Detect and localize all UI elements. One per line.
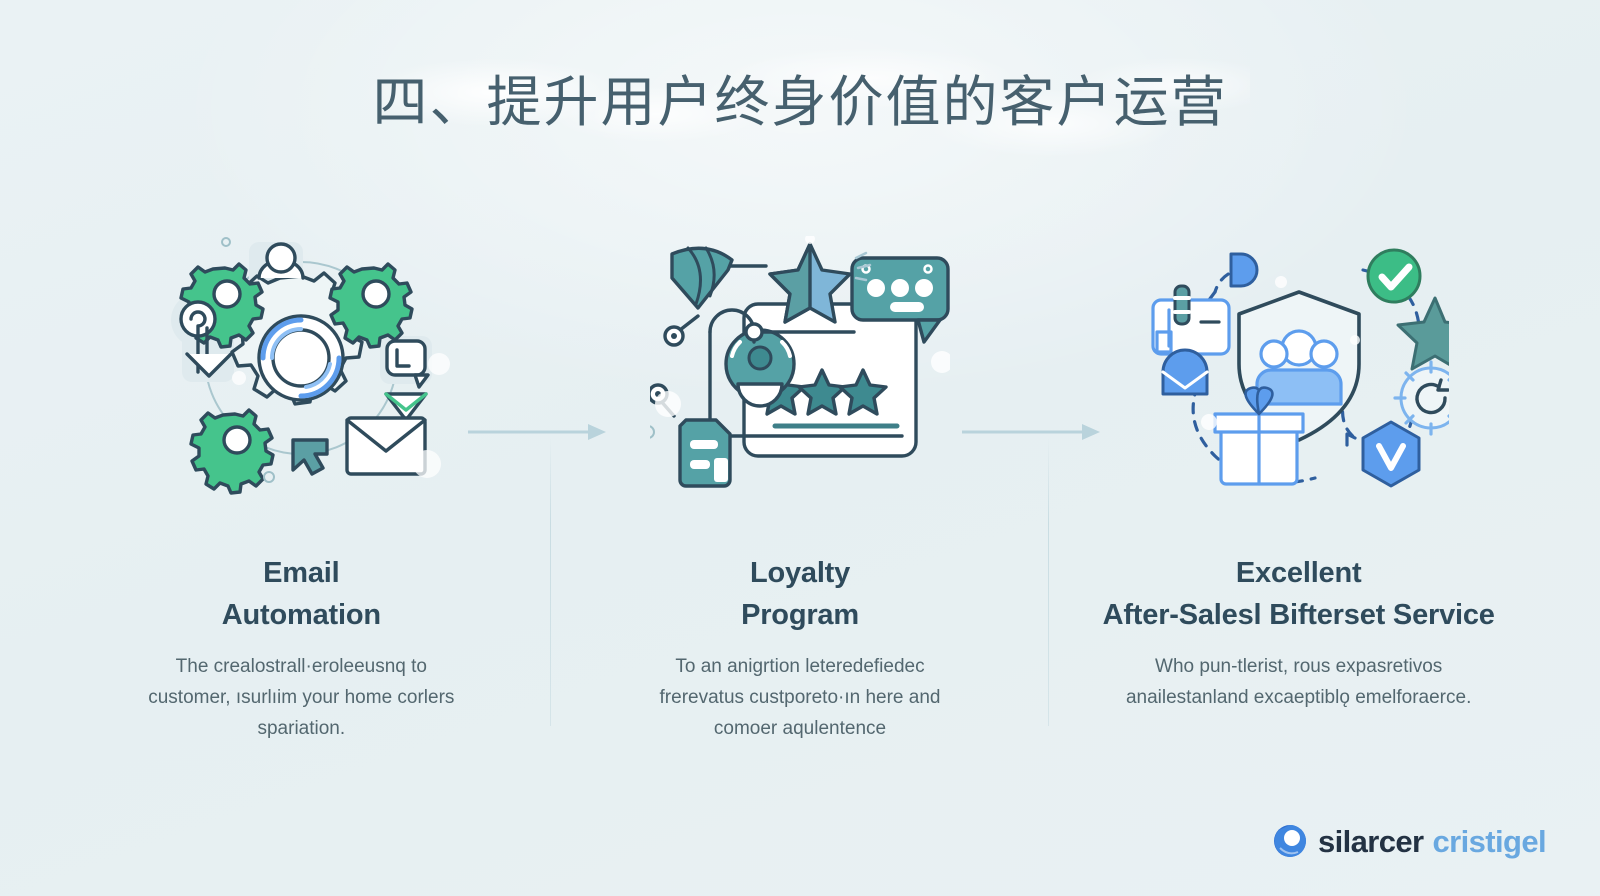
flow-arrow-1 <box>468 421 608 443</box>
logo-name: silarcer <box>1318 826 1424 857</box>
email-automation-illustration <box>151 236 451 496</box>
column-heading: Excellent After-Salesl Bifterset Service <box>1103 552 1495 636</box>
column-heading-line2: Automation <box>222 594 381 636</box>
logo-circle-icon <box>1273 824 1307 858</box>
column-heading-line2: Program <box>741 594 859 636</box>
column-body-text: To an anigrtion leteredeﬁedec frerevatus… <box>635 652 965 745</box>
logo-subname: cristigel <box>1433 826 1546 857</box>
columns-container: Email Automation The crealostrall·erolee… <box>52 236 1548 745</box>
flow-arrow-2 <box>962 421 1102 443</box>
brand-logo: silarcer cristigel <box>1273 824 1546 858</box>
page-title: 四、提升用户终身价值的客户运营 <box>0 72 1600 133</box>
column-heading: Loyalty Program <box>741 552 859 636</box>
column-heading-line2: After-Salesl Bifterset Service <box>1103 594 1495 636</box>
slide-canvas: 四、提升用户终身价值的客户运营 <box>0 0 1600 896</box>
logo-wordmark: silarcer cristigel <box>1318 826 1546 857</box>
column-heading-line1: Email <box>222 552 381 594</box>
title-block: 四、提升用户终身价值的客户运营 <box>0 72 1600 133</box>
column-heading-line1: Excellent <box>1103 552 1495 594</box>
after-sales-service-illustration <box>1149 236 1449 496</box>
loyalty-program-illustration <box>650 236 950 496</box>
column-after-sales-service: Excellent After-Salesl Bifterset Service… <box>1049 236 1548 714</box>
column-body-text: Who pun-tlerist, rous expasretivos anail… <box>1109 652 1489 714</box>
column-email-automation: Email Automation The crealostrall·erolee… <box>52 236 551 745</box>
column-heading: Email Automation <box>222 552 381 636</box>
column-body-text: The crealostrall·eroleeusnq to customer,… <box>136 652 466 745</box>
column-loyalty-program: Loyalty Program To an anigrtion leterede… <box>551 236 1050 745</box>
column-heading-line1: Loyalty <box>741 552 859 594</box>
